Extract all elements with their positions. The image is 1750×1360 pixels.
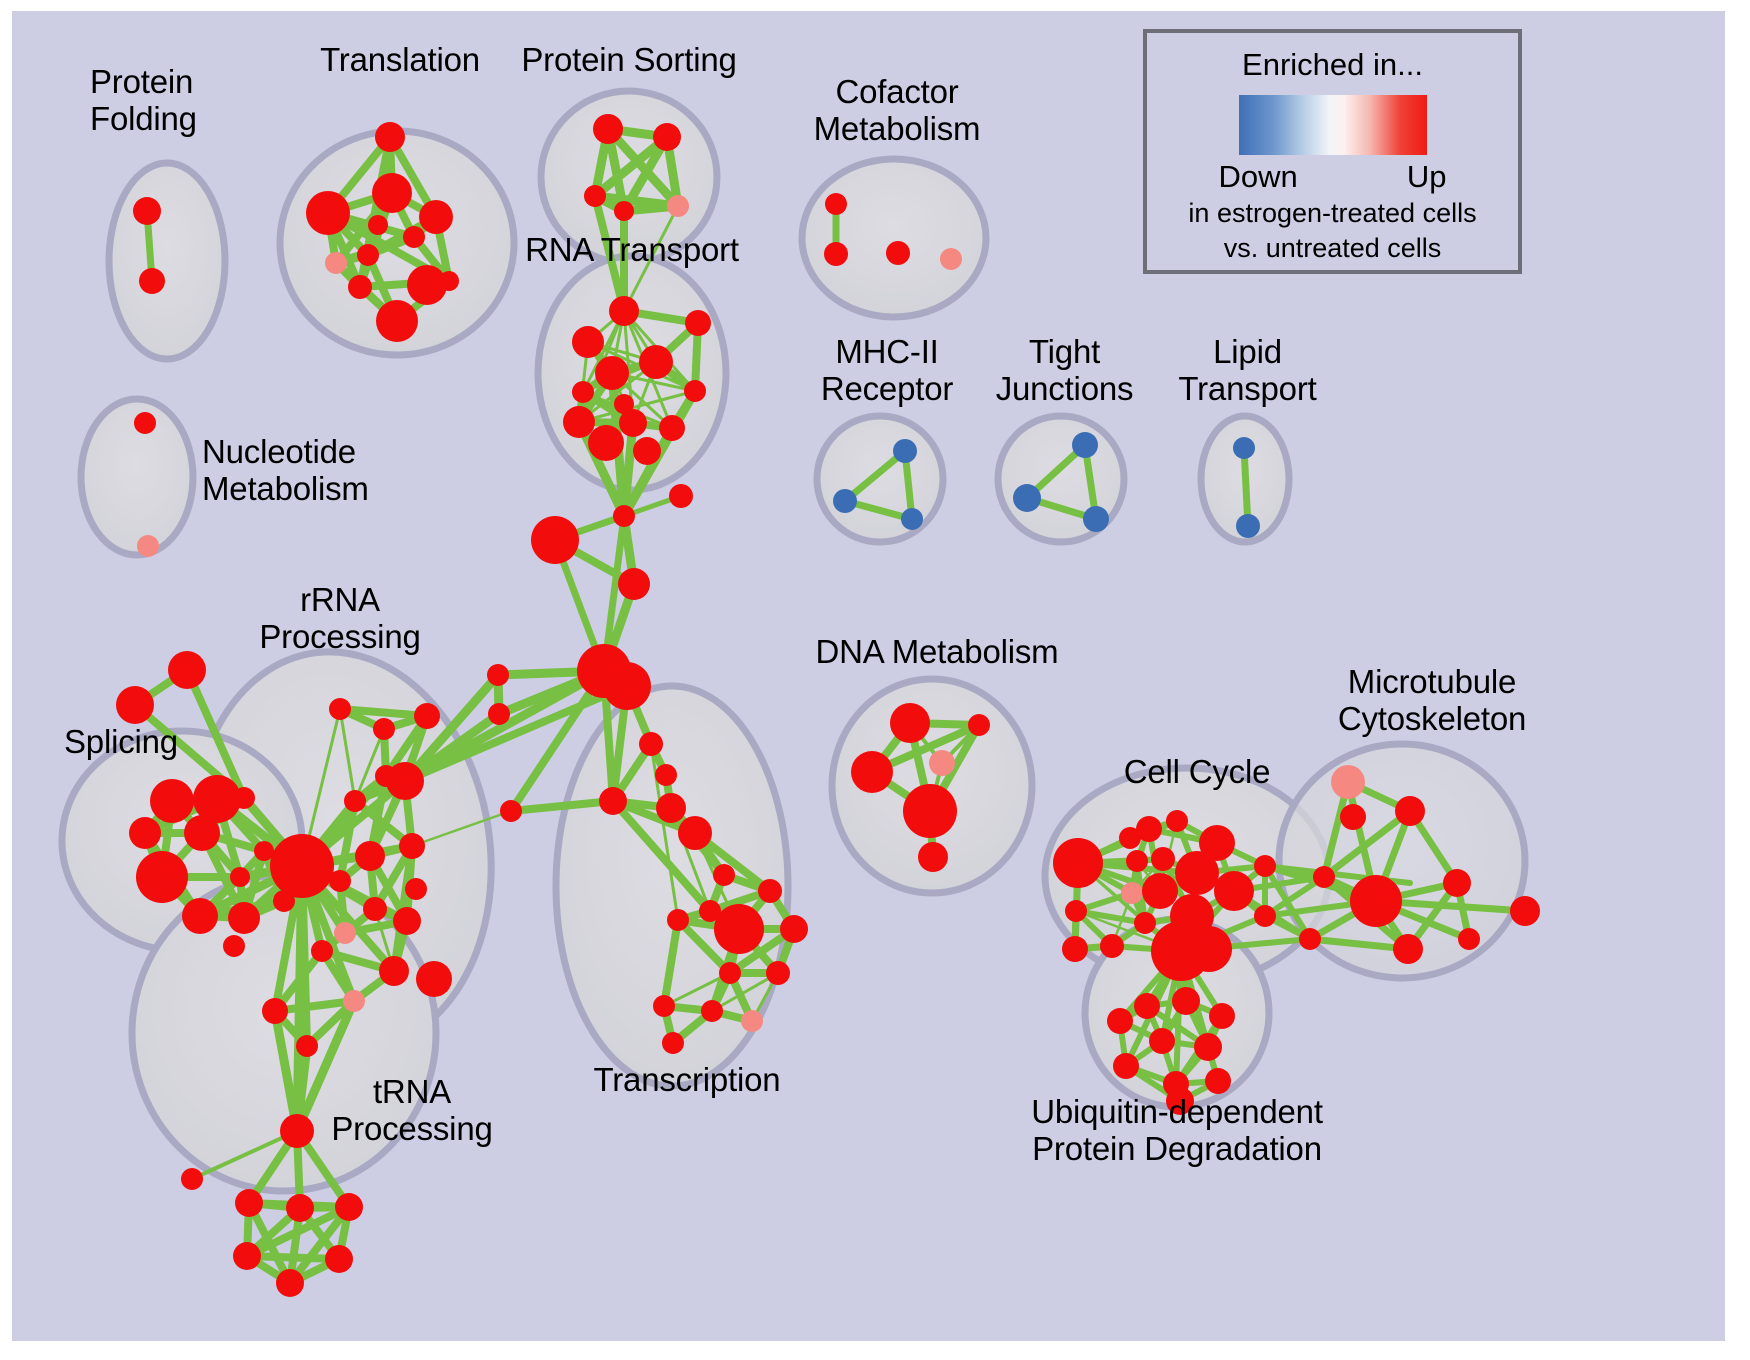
node	[262, 998, 288, 1024]
node	[1100, 934, 1124, 958]
node	[416, 961, 452, 997]
node	[609, 296, 639, 326]
node	[375, 122, 405, 152]
node	[363, 897, 387, 921]
node	[918, 842, 948, 872]
node	[168, 651, 206, 689]
node	[667, 195, 689, 217]
node	[348, 275, 372, 299]
node	[656, 793, 686, 823]
node	[488, 703, 510, 725]
node	[1113, 1053, 1139, 1079]
node	[357, 244, 379, 266]
node	[1443, 869, 1471, 897]
node	[134, 412, 156, 434]
hull-mhc-ii-receptor	[817, 416, 943, 542]
hull-cofactor-metabolism	[802, 159, 986, 317]
hull-protein-sorting	[541, 91, 717, 263]
node	[419, 200, 453, 234]
node	[1134, 912, 1156, 934]
node	[1254, 855, 1276, 877]
node	[335, 1193, 363, 1221]
node	[653, 123, 681, 151]
node	[1299, 928, 1321, 950]
node	[1134, 993, 1160, 1019]
legend-high-label: Up	[1407, 159, 1447, 195]
node	[766, 961, 790, 985]
node	[325, 1245, 353, 1273]
node	[1209, 1003, 1235, 1029]
node	[1393, 934, 1423, 964]
node	[614, 201, 634, 221]
node	[1151, 847, 1175, 871]
node	[133, 197, 161, 225]
node	[584, 185, 606, 207]
node	[639, 732, 663, 756]
node	[603, 662, 651, 710]
node	[306, 191, 350, 235]
node	[296, 1035, 318, 1057]
node	[233, 1242, 261, 1270]
node	[1175, 851, 1219, 895]
node	[1194, 1033, 1222, 1061]
node	[311, 940, 333, 962]
node	[655, 764, 677, 786]
node	[228, 902, 260, 934]
node	[500, 800, 522, 822]
node	[1166, 810, 1188, 832]
node	[1013, 484, 1041, 512]
node	[1331, 765, 1365, 799]
legend-color-gradient	[1239, 95, 1427, 155]
node	[825, 193, 847, 215]
node	[618, 568, 650, 600]
node	[355, 841, 385, 871]
node	[719, 962, 741, 984]
node	[1254, 905, 1276, 927]
node	[780, 915, 808, 943]
node	[414, 703, 440, 729]
node	[701, 1000, 723, 1022]
node	[280, 1114, 314, 1148]
node	[344, 790, 366, 812]
node	[614, 394, 634, 414]
node	[833, 489, 857, 513]
node	[399, 833, 425, 859]
node	[1172, 987, 1200, 1015]
node	[136, 851, 188, 903]
node	[901, 508, 923, 530]
node	[667, 909, 689, 931]
node	[1313, 866, 1335, 888]
legend-low-label: Down	[1219, 159, 1298, 195]
node	[1149, 1028, 1175, 1054]
node	[929, 750, 955, 776]
node	[613, 505, 635, 527]
hull-protein-folding	[109, 163, 225, 359]
node	[1072, 432, 1098, 458]
node	[968, 714, 990, 736]
node	[407, 265, 447, 305]
node	[685, 310, 711, 336]
node	[741, 1010, 763, 1032]
node	[325, 252, 347, 274]
node	[182, 898, 218, 934]
node	[662, 1032, 684, 1054]
node	[1083, 506, 1109, 532]
legend-panel: Enriched in... Down Up in estrogen-treat…	[1143, 29, 1522, 274]
node	[758, 879, 782, 903]
node	[329, 698, 351, 720]
node	[1340, 804, 1366, 830]
node	[487, 664, 509, 686]
node	[599, 787, 627, 815]
node	[379, 956, 409, 986]
node	[230, 867, 250, 887]
node	[678, 816, 712, 850]
node	[593, 114, 623, 144]
node	[139, 268, 165, 294]
node	[890, 703, 930, 743]
node	[184, 815, 220, 851]
node	[563, 406, 595, 438]
node	[653, 995, 675, 1017]
node	[940, 248, 962, 270]
node	[181, 1168, 203, 1190]
node	[235, 1189, 263, 1217]
figure-canvas: Protein Folding Translation Protein Sort…	[0, 0, 1750, 1360]
network-plot-area: Protein Folding Translation Protein Sort…	[12, 11, 1725, 1341]
node	[639, 345, 673, 379]
node	[1119, 827, 1141, 849]
node	[659, 415, 685, 441]
node	[1205, 1068, 1231, 1094]
node	[129, 817, 161, 849]
node	[1233, 437, 1255, 459]
node	[405, 878, 427, 900]
node	[886, 241, 910, 265]
node	[270, 834, 334, 898]
node	[633, 437, 661, 465]
node	[1510, 896, 1540, 926]
node	[223, 935, 245, 957]
node	[1458, 928, 1480, 950]
node	[588, 425, 624, 461]
node	[368, 215, 388, 235]
node	[1166, 1087, 1194, 1115]
node	[1107, 1008, 1133, 1034]
node	[1214, 871, 1254, 911]
node	[572, 326, 604, 358]
node	[531, 516, 579, 564]
node	[373, 718, 395, 740]
node	[137, 535, 159, 557]
node	[851, 751, 893, 793]
node	[1142, 873, 1178, 909]
node	[595, 356, 629, 390]
node	[1065, 900, 1087, 922]
node	[714, 904, 764, 954]
node	[334, 922, 356, 944]
node	[1053, 838, 1103, 888]
node	[150, 779, 194, 823]
legend-caption-line2: vs. untreated cells	[1147, 232, 1518, 265]
node	[329, 870, 351, 892]
node	[386, 762, 424, 800]
legend-endpoint-labels: Down Up	[1219, 159, 1447, 195]
node	[286, 1194, 314, 1222]
legend-title: Enriched in...	[1147, 47, 1518, 83]
node	[1186, 926, 1232, 972]
node	[393, 907, 421, 935]
node	[1126, 850, 1148, 872]
node	[276, 1269, 304, 1297]
node	[669, 484, 693, 508]
node	[376, 300, 418, 342]
node	[1062, 936, 1088, 962]
node	[713, 864, 735, 886]
node	[684, 380, 706, 402]
node	[824, 242, 848, 266]
node	[1350, 875, 1402, 927]
node	[1121, 882, 1143, 904]
node	[572, 381, 594, 403]
legend-caption-line1: in estrogen-treated cells	[1147, 197, 1518, 230]
node	[1395, 796, 1425, 826]
node	[343, 990, 365, 1012]
node	[116, 686, 154, 724]
node	[403, 226, 425, 248]
node	[893, 439, 917, 463]
node	[372, 173, 412, 213]
node	[254, 841, 274, 861]
node	[903, 784, 957, 838]
node	[1236, 514, 1260, 538]
